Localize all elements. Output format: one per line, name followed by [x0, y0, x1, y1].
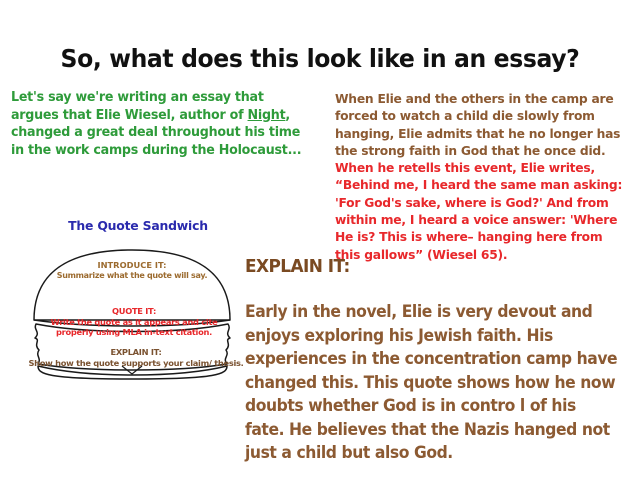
intro-paragraph: Let's say we're writing an essay that ar… [11, 89, 311, 159]
sandwich-quote-block: QUOTE IT: Write the quote as it appears … [38, 306, 230, 338]
intro-text-part1: Let's say we're writing an essay that ar… [11, 90, 264, 123]
sandwich-explain-text: Show how the quote supports your claim/ … [20, 358, 252, 369]
sandwich-introduce-text: Summarize what the quote will say. [56, 271, 208, 282]
quote-paragraph: When Elie and the others in the camp are… [335, 91, 623, 264]
book-title-night: Night [248, 108, 286, 123]
analysis-paragraph: Early in the novel, Elie is very devout … [245, 300, 617, 465]
page-title: So, what does this look like in an essay… [19, 44, 621, 73]
slide-canvas: So, what does this look like in an essay… [0, 0, 640, 480]
quote-lead-in: When Elie and the others in the camp are… [335, 92, 620, 159]
sandwich-explain-block: EXPLAIN IT: Show how the quote supports … [20, 347, 252, 368]
sandwich-explain-label: EXPLAIN IT: [20, 347, 252, 358]
sandwich-quote-label: QUOTE IT: [38, 306, 230, 317]
sandwich-introduce-block: INTRODUCE IT: Summarize what the quote w… [56, 260, 208, 281]
sandwich-introduce-label: INTRODUCE IT: [56, 260, 208, 271]
quote-sandwich-heading: The Quote Sandwich [18, 218, 258, 233]
explain-it-heading: EXPLAIN IT: [245, 256, 350, 277]
quote-sandwich-diagram: The Quote Sandwich INTRODUCE IT: Summari… [18, 218, 258, 378]
sandwich-quote-text: Write the quote as it appears and cite p… [38, 317, 230, 338]
quote-cited-passage: When he retells this event, Elie writes,… [335, 161, 622, 262]
